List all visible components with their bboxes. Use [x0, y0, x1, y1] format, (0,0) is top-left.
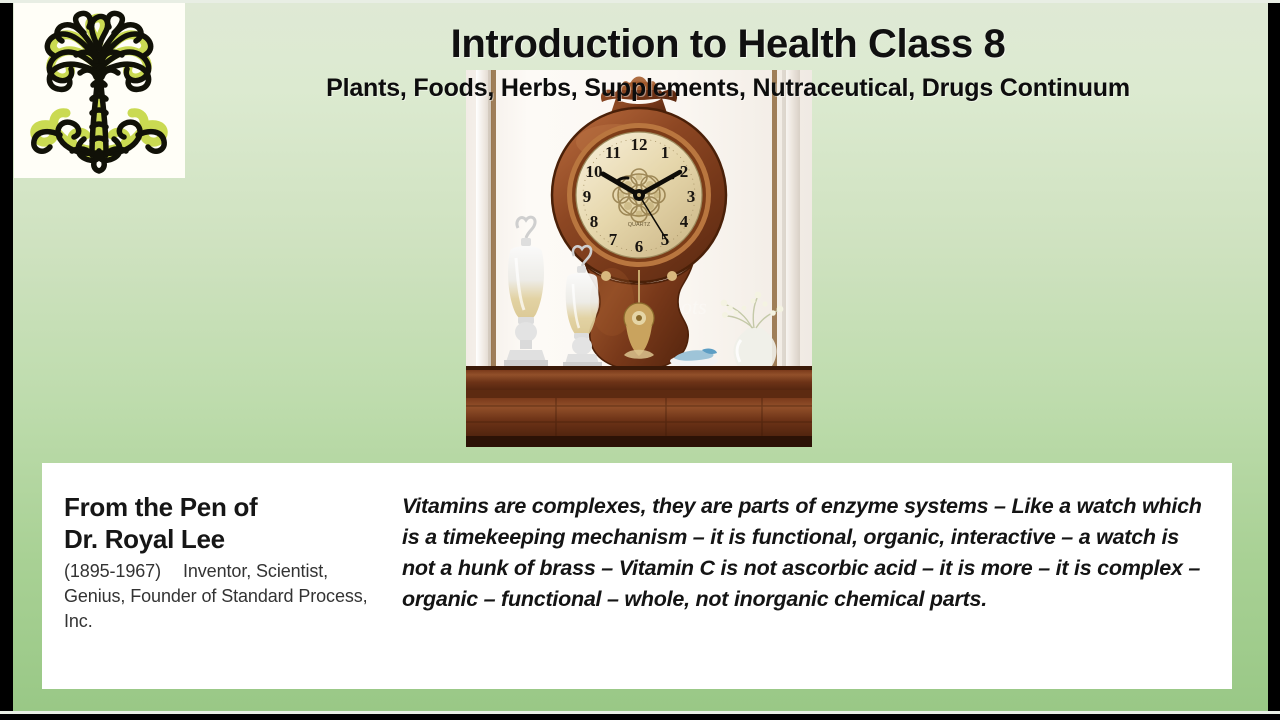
royal-lee-quote-card: From the Pen of Dr. Royal Lee (1895-1967… — [42, 463, 1232, 689]
slide-canvas: Introduction to Health Class 8 Plants, F… — [13, 3, 1268, 711]
svg-text:8: 8 — [590, 212, 599, 231]
quote-attribution: From the Pen of Dr. Royal Lee (1895-1967… — [64, 491, 394, 679]
svg-text:6: 6 — [635, 237, 644, 256]
svg-text:7: 7 — [609, 230, 618, 249]
page-title: Introduction to Health Class 8 — [198, 20, 1258, 68]
svg-text:4: 4 — [680, 212, 689, 231]
bottom-hairline — [0, 711, 1280, 714]
svg-text:9: 9 — [583, 187, 592, 206]
quote-body: Vitamins are complexes, they are parts o… — [394, 491, 1214, 679]
svg-text:11: 11 — [605, 143, 621, 162]
author-years: (1895-1967) — [64, 561, 161, 581]
page-subtitle: Plants, Foods, Herbs, Supplements, Nutra… — [198, 72, 1258, 104]
title-block: Introduction to Health Class 8 Plants, F… — [198, 20, 1258, 104]
svg-text:3: 3 — [687, 187, 696, 206]
quote-text: Vitamins are complexes, they are parts o… — [402, 491, 1214, 615]
slide-frame: Introduction to Health Class 8 Plants, F… — [0, 0, 1280, 720]
svg-text:QUARTZ: QUARTZ — [628, 222, 651, 228]
celtic-tree-of-life-logo — [14, 3, 185, 178]
svg-text:12: 12 — [631, 135, 648, 154]
author-bio: (1895-1967)Inventor, Scientist, Genius, … — [64, 559, 384, 634]
pen-of-heading: From the Pen of — [64, 491, 384, 523]
author-name: Dr. Royal Lee — [64, 523, 384, 555]
antique-wall-clock-photo: HomeRoots 12 1 — [466, 70, 812, 447]
svg-text:1: 1 — [661, 143, 670, 162]
svg-text:10: 10 — [586, 162, 603, 181]
